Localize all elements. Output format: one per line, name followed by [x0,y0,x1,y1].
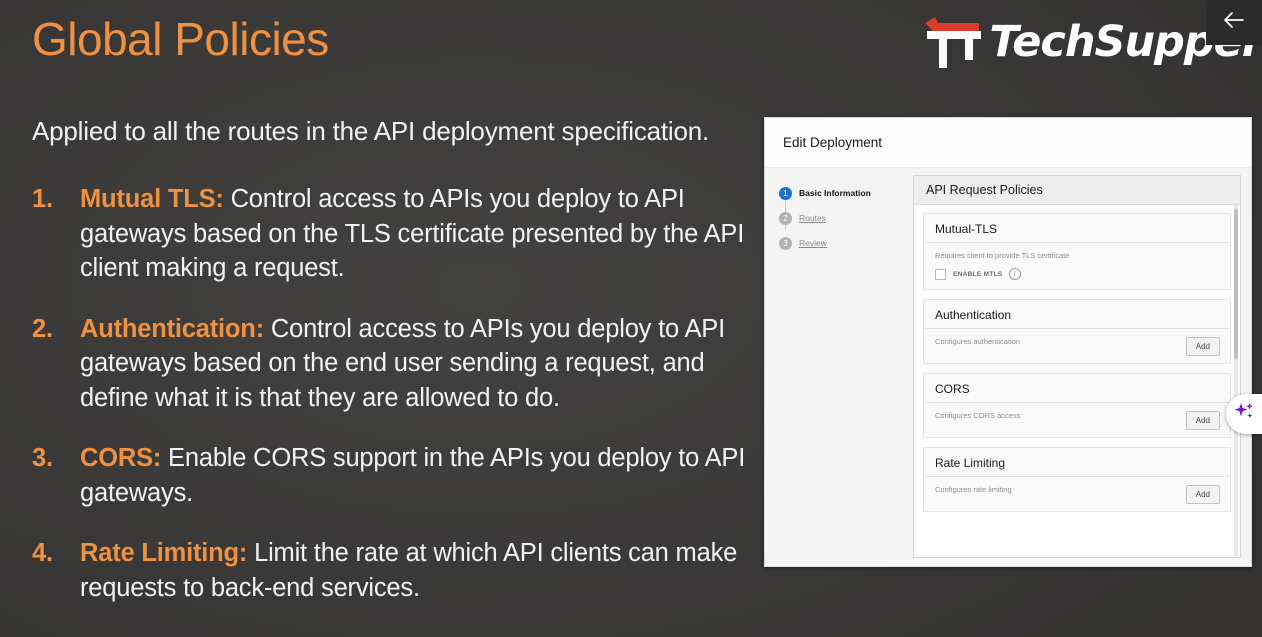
policy-card-body: Requires client to provide TLS certifica… [924,243,1230,289]
list-item: 3. CORS: Enable CORS support in the APIs… [32,441,748,510]
list-item-term: CORS: [80,444,161,472]
info-icon[interactable]: i [1009,268,1021,280]
list-item-number: 3. [32,441,80,476]
list-item-text: Authentication: Control access to APIs y… [80,312,748,416]
enable-mtls-row: ENABLE MTLS i [935,268,1219,280]
policy-card-body: Configures CORS access Add [924,403,1230,437]
policy-card-title: Mutual-TLS [924,214,1230,243]
policy-card-cors: CORS Configures CORS access Add [923,373,1231,438]
policy-card-description: Configures rate limiting [935,485,1219,494]
step-label: Basic Information [799,188,871,198]
wizard-step-routes[interactable]: 2 Routes [779,208,913,228]
panel-scrollbar-thumb[interactable] [1234,209,1238,359]
policy-card-description: Configures authentication [935,337,1219,346]
list-item-term: Rate Limiting: [80,539,247,567]
policy-card-description: Requires client to provide TLS certifica… [935,251,1219,260]
wizard-steps: 1 Basic Information 2 Routes 3 Review [765,168,913,564]
step-label: Review [799,238,827,248]
list-item-term: Mutual TLS: [80,185,224,213]
console-body: 1 Basic Information 2 Routes 3 Review AP… [765,168,1251,564]
panel-title: API Request Policies [914,176,1240,205]
presentation-slide: Global Policies TechSupper [0,0,1262,637]
sparkle-icon [1232,400,1256,429]
add-cors-button[interactable]: Add [1186,411,1220,430]
back-button[interactable] [1206,0,1262,45]
policy-card-title: Rate Limiting [924,448,1230,477]
add-authentication-button[interactable]: Add [1186,337,1220,356]
wizard-step-basic-information[interactable]: 1 Basic Information [779,183,913,203]
list-item-number: 4. [32,536,80,571]
panel-scrollbar[interactable] [1234,205,1238,557]
step-number-badge: 2 [779,212,792,225]
intro-text: Applied to all the routes in the API dep… [32,116,709,147]
list-item: 4. Rate Limiting: Limit the rate at whic… [32,536,748,605]
list-item-number: 2. [32,312,80,347]
console-header: Edit Deployment [765,118,1251,168]
add-rate-limiting-button[interactable]: Add [1186,485,1220,504]
list-item: 1. Mutual TLS: Control access to APIs yo… [32,182,748,286]
arrow-left-icon [1223,11,1245,34]
policy-card-title: Authentication [924,300,1230,329]
enable-mtls-checkbox[interactable] [935,269,946,280]
panel-scroll-area[interactable]: Mutual-TLS Requires client to provide TL… [914,205,1240,557]
embedded-console-screenshot: Edit Deployment 1 Basic Information 2 Ro… [764,117,1252,567]
list-item: 2. Authentication: Control access to API… [32,312,748,416]
tt-monogram-logo-icon [921,14,985,70]
page-title: Global Policies [32,10,329,70]
list-item-term: Authentication: [80,315,264,343]
policy-card-body: Configures rate limiting Add [924,477,1230,511]
policy-list: 1. Mutual TLS: Control access to APIs yo… [32,182,748,631]
policy-card-mutual-tls: Mutual-TLS Requires client to provide TL… [923,213,1231,290]
policy-card-rate-limiting: Rate Limiting Configures rate limiting A… [923,447,1231,512]
list-item-number: 1. [32,182,80,217]
policy-card-authentication: Authentication Configures authentication… [923,299,1231,364]
api-request-policies-panel: API Request Policies Mutual-TLS Requires… [913,175,1241,558]
policy-card-body: Configures authentication Add [924,329,1230,363]
list-item-body: Enable CORS support in the APIs you depl… [80,444,745,507]
assistant-sparkle-button[interactable] [1226,394,1262,434]
step-number-badge: 1 [779,187,792,200]
list-item-text: Rate Limiting: Limit the rate at which A… [80,536,748,605]
list-item-text: Mutual TLS: Control access to APIs you d… [80,182,748,286]
step-label: Routes [799,213,826,223]
list-item-text: CORS: Enable CORS support in the APIs yo… [80,441,748,510]
console-header-title: Edit Deployment [783,135,882,150]
policy-card-title: CORS [924,374,1230,403]
policy-card-description: Configures CORS access [935,411,1219,420]
enable-mtls-label: ENABLE MTLS [953,271,1003,278]
step-number-badge: 3 [779,237,792,250]
wizard-step-review[interactable]: 3 Review [779,233,913,253]
